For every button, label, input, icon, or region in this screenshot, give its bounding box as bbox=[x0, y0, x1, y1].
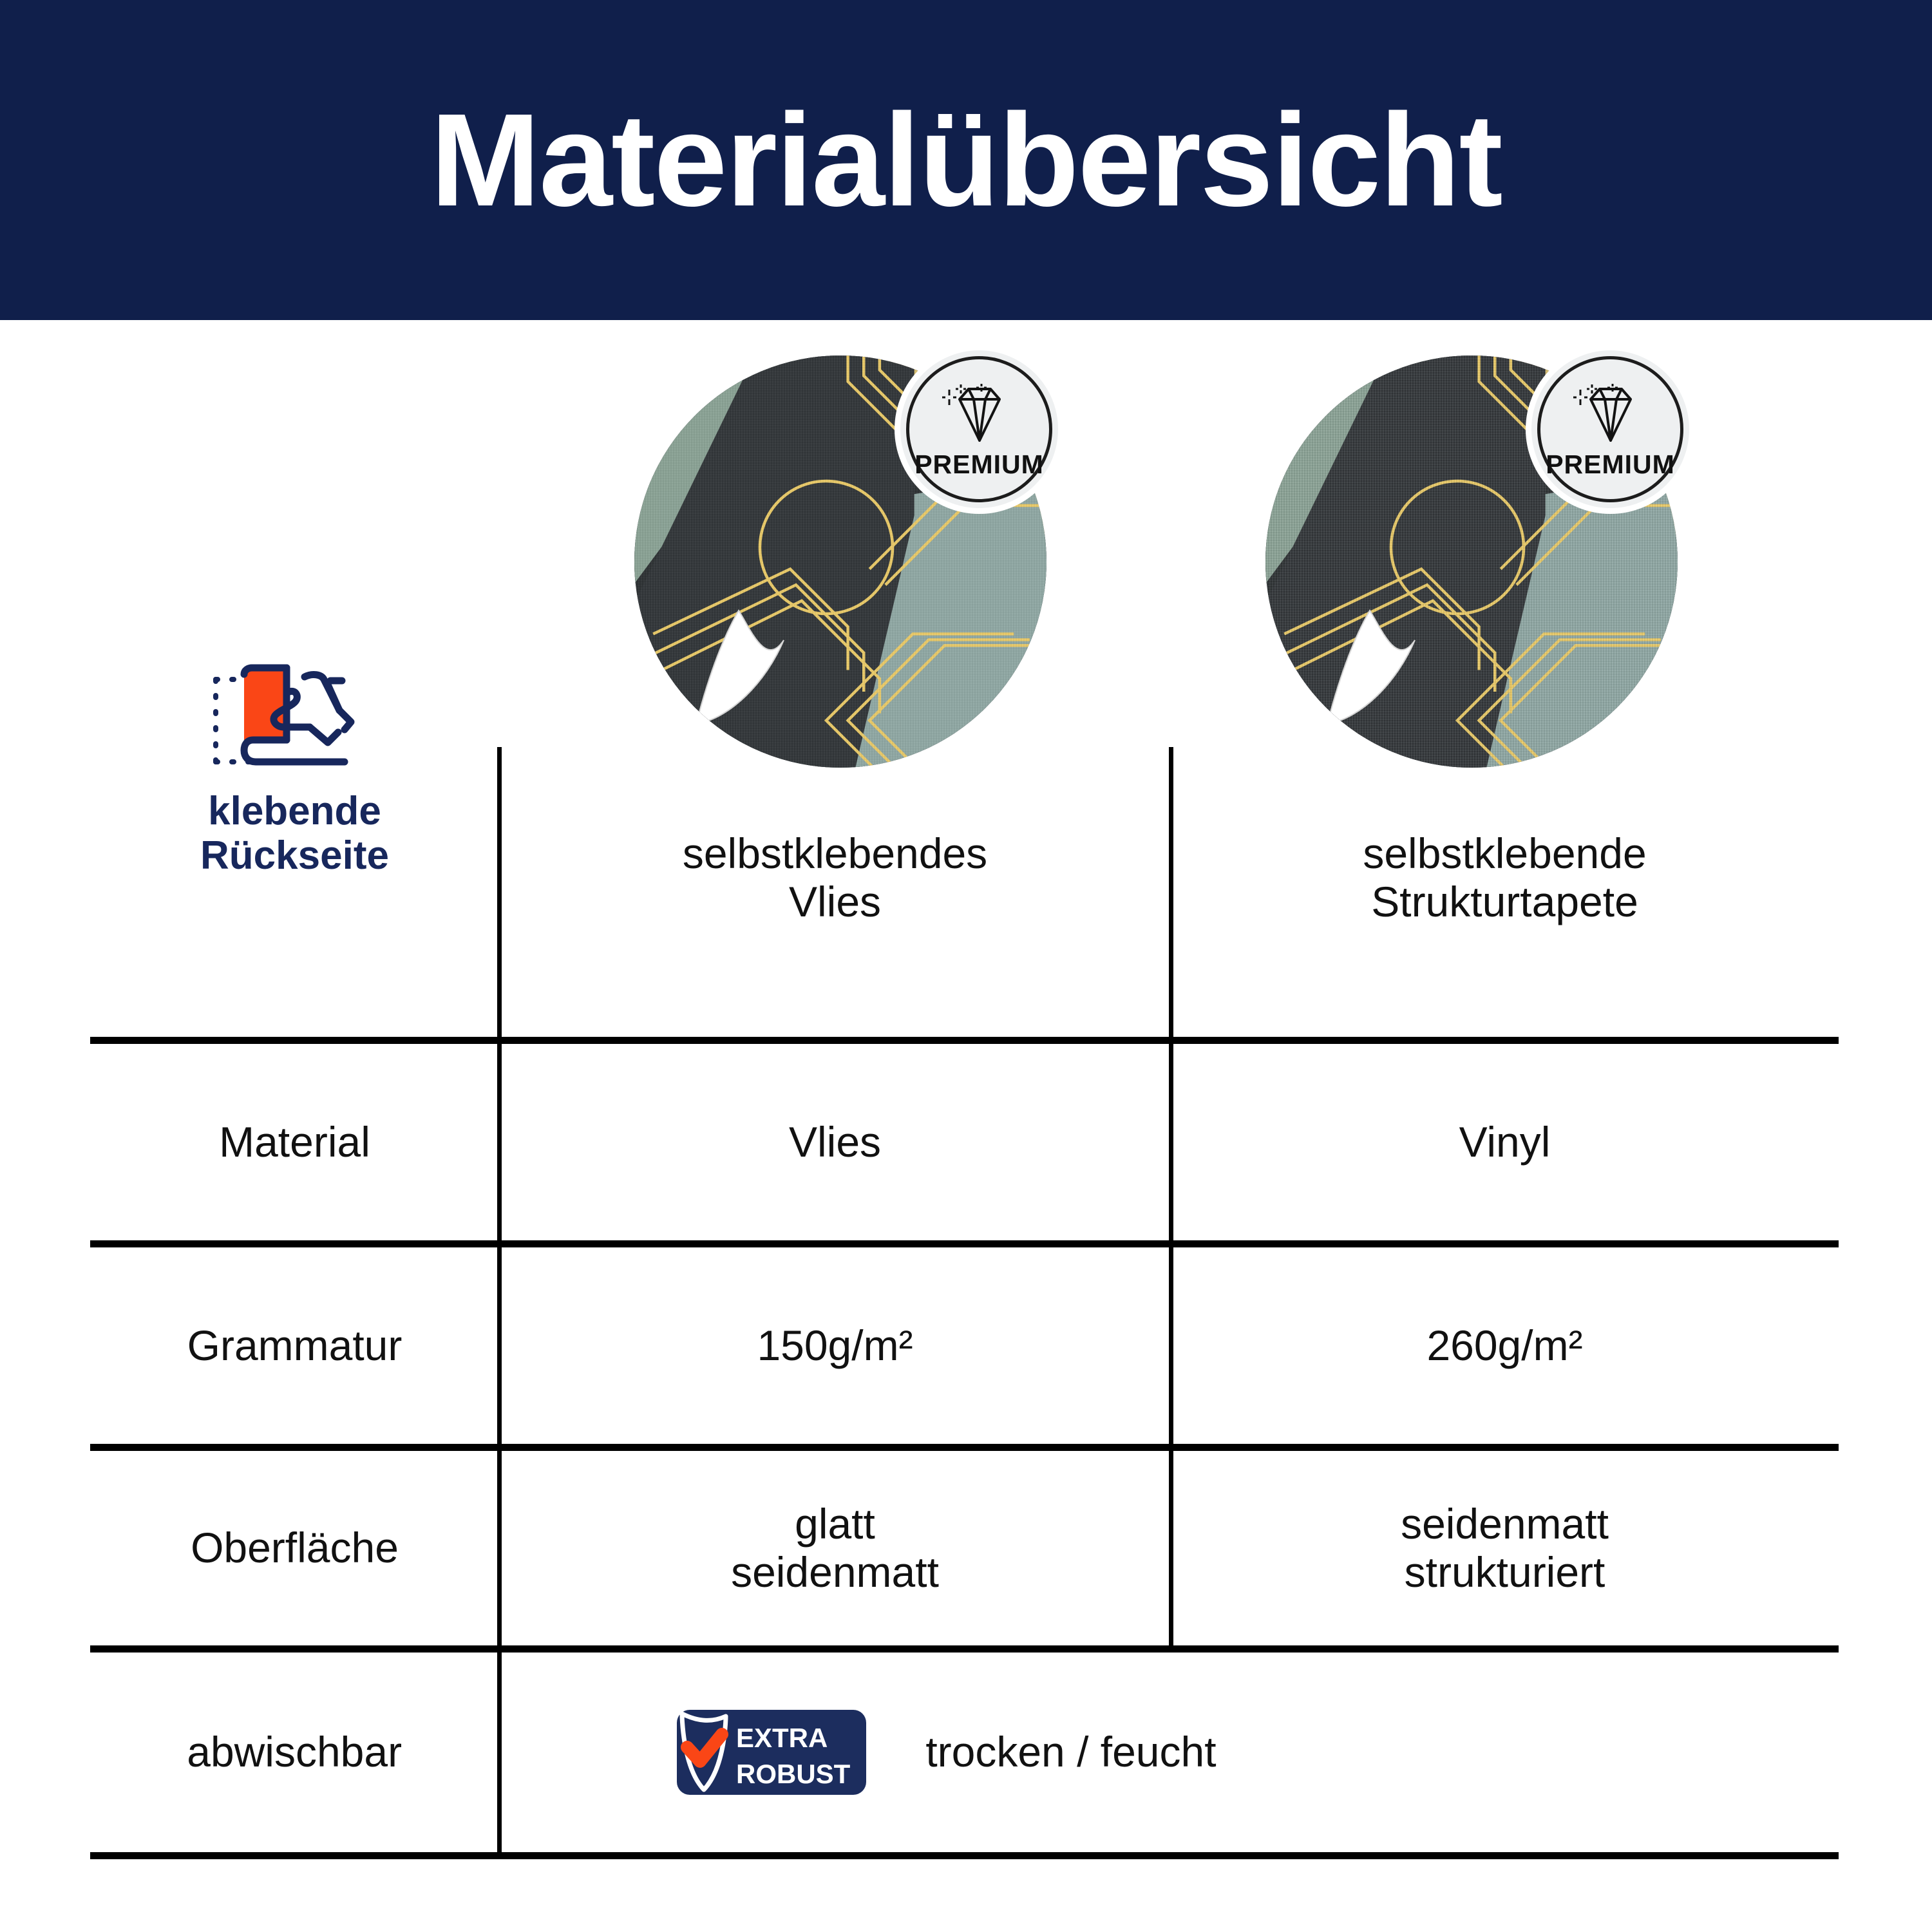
header-col2-line2: Vlies bbox=[789, 878, 881, 925]
premium-badge-left: PREMIUM bbox=[900, 350, 1058, 508]
material-spec-table: klebende Rückseite selbstklebendes Vlies… bbox=[90, 747, 1839, 1859]
adhesive-label-line1: klebende bbox=[208, 789, 381, 833]
extra-robust-line2: ROBUST bbox=[736, 1759, 851, 1789]
row-divider-5 bbox=[90, 1852, 1839, 1859]
row-value-material-col3: Vinyl bbox=[1171, 1044, 1839, 1240]
row-value-material-col2: Vlies bbox=[499, 1044, 1171, 1240]
product-preview-right: PREMIUM bbox=[1265, 355, 1684, 774]
column-divider-1 bbox=[497, 1044, 502, 1240]
extra-robust-line1: EXTRA bbox=[736, 1723, 828, 1753]
premium-badge-label: PREMIUM bbox=[914, 450, 1044, 480]
extra-robust-badge: EXTRA ROBUST bbox=[650, 1707, 869, 1797]
table-row: Grammatur 150g/m² 260g/m² bbox=[90, 1247, 1839, 1444]
row-value-oberflaeche-col2: glatt seidenmatt bbox=[499, 1451, 1171, 1645]
header-cell-col2: selbstklebendes Vlies bbox=[499, 747, 1171, 1037]
row-label-grammatur: Grammatur bbox=[90, 1247, 499, 1444]
header-cell-col3: selbstklebende Strukturtapete bbox=[1171, 747, 1839, 1037]
column-divider-1 bbox=[497, 1247, 502, 1444]
table-header-row: klebende Rückseite selbstklebendes Vlies… bbox=[90, 747, 1839, 1037]
row-divider-4 bbox=[90, 1645, 1839, 1653]
adhesive-feature-label: klebende Rückseite bbox=[200, 789, 389, 878]
header-col3-line1: selbstklebende bbox=[1363, 829, 1646, 877]
column-divider-2 bbox=[1169, 1451, 1173, 1645]
header-col2-line1: selbstklebendes bbox=[683, 829, 987, 877]
column-divider-1 bbox=[497, 747, 502, 1037]
oberflaeche-col2-line1: glatt bbox=[795, 1500, 875, 1548]
row-label-material: Material bbox=[90, 1044, 499, 1240]
column-divider-1 bbox=[497, 1653, 502, 1852]
adhesive-feature-cell: klebende Rückseite bbox=[90, 747, 499, 1037]
wipeable-value-text: trocken / feucht bbox=[925, 1728, 1216, 1776]
column-divider-1 bbox=[497, 1451, 502, 1645]
column-divider-2 bbox=[1169, 1247, 1173, 1444]
column-divider-2 bbox=[1169, 1044, 1173, 1240]
page-header: Materialübersicht bbox=[0, 0, 1932, 320]
adhesive-label-line2: Rückseite bbox=[200, 833, 389, 878]
product-preview-left: PREMIUM bbox=[634, 355, 1053, 774]
table-row: Oberfläche glatt seidenmatt seidenmatt s… bbox=[90, 1451, 1839, 1645]
table-row: abwischbar EXTRA ROBUST trocken / feucht bbox=[90, 1653, 1839, 1852]
row-label-oberflaeche: Oberfläche bbox=[90, 1451, 499, 1645]
premium-badge-label: PREMIUM bbox=[1546, 450, 1675, 480]
row-value-grammatur-col3: 260g/m² bbox=[1171, 1247, 1839, 1444]
column-divider-2 bbox=[1169, 747, 1173, 1037]
diamond-icon bbox=[1573, 383, 1649, 444]
oberflaeche-col3-line2: strukturiert bbox=[1405, 1548, 1605, 1596]
diamond-icon bbox=[942, 383, 1018, 444]
row-divider-3 bbox=[90, 1444, 1839, 1451]
row-label-abwischbar: abwischbar bbox=[90, 1653, 498, 1852]
row-value-oberflaeche-col3: seidenmatt strukturiert bbox=[1171, 1451, 1839, 1645]
row-value-grammatur-col2: 150g/m² bbox=[499, 1247, 1171, 1444]
table-row: Material Vlies Vinyl bbox=[90, 1044, 1839, 1240]
premium-badge-right: PREMIUM bbox=[1531, 350, 1689, 508]
row-value-abwischbar: EXTRA ROBUST trocken / feucht bbox=[498, 1653, 1839, 1852]
adhesive-peel-hand-icon bbox=[202, 660, 388, 782]
oberflaeche-col3-line1: seidenmatt bbox=[1401, 1500, 1609, 1548]
oberflaeche-col2-line2: seidenmatt bbox=[731, 1548, 939, 1596]
header-col3-line2: Strukturtapete bbox=[1371, 878, 1638, 925]
row-divider-2 bbox=[90, 1240, 1839, 1247]
row-divider-1 bbox=[90, 1037, 1839, 1044]
page-title: Materialübersicht bbox=[430, 94, 1501, 226]
